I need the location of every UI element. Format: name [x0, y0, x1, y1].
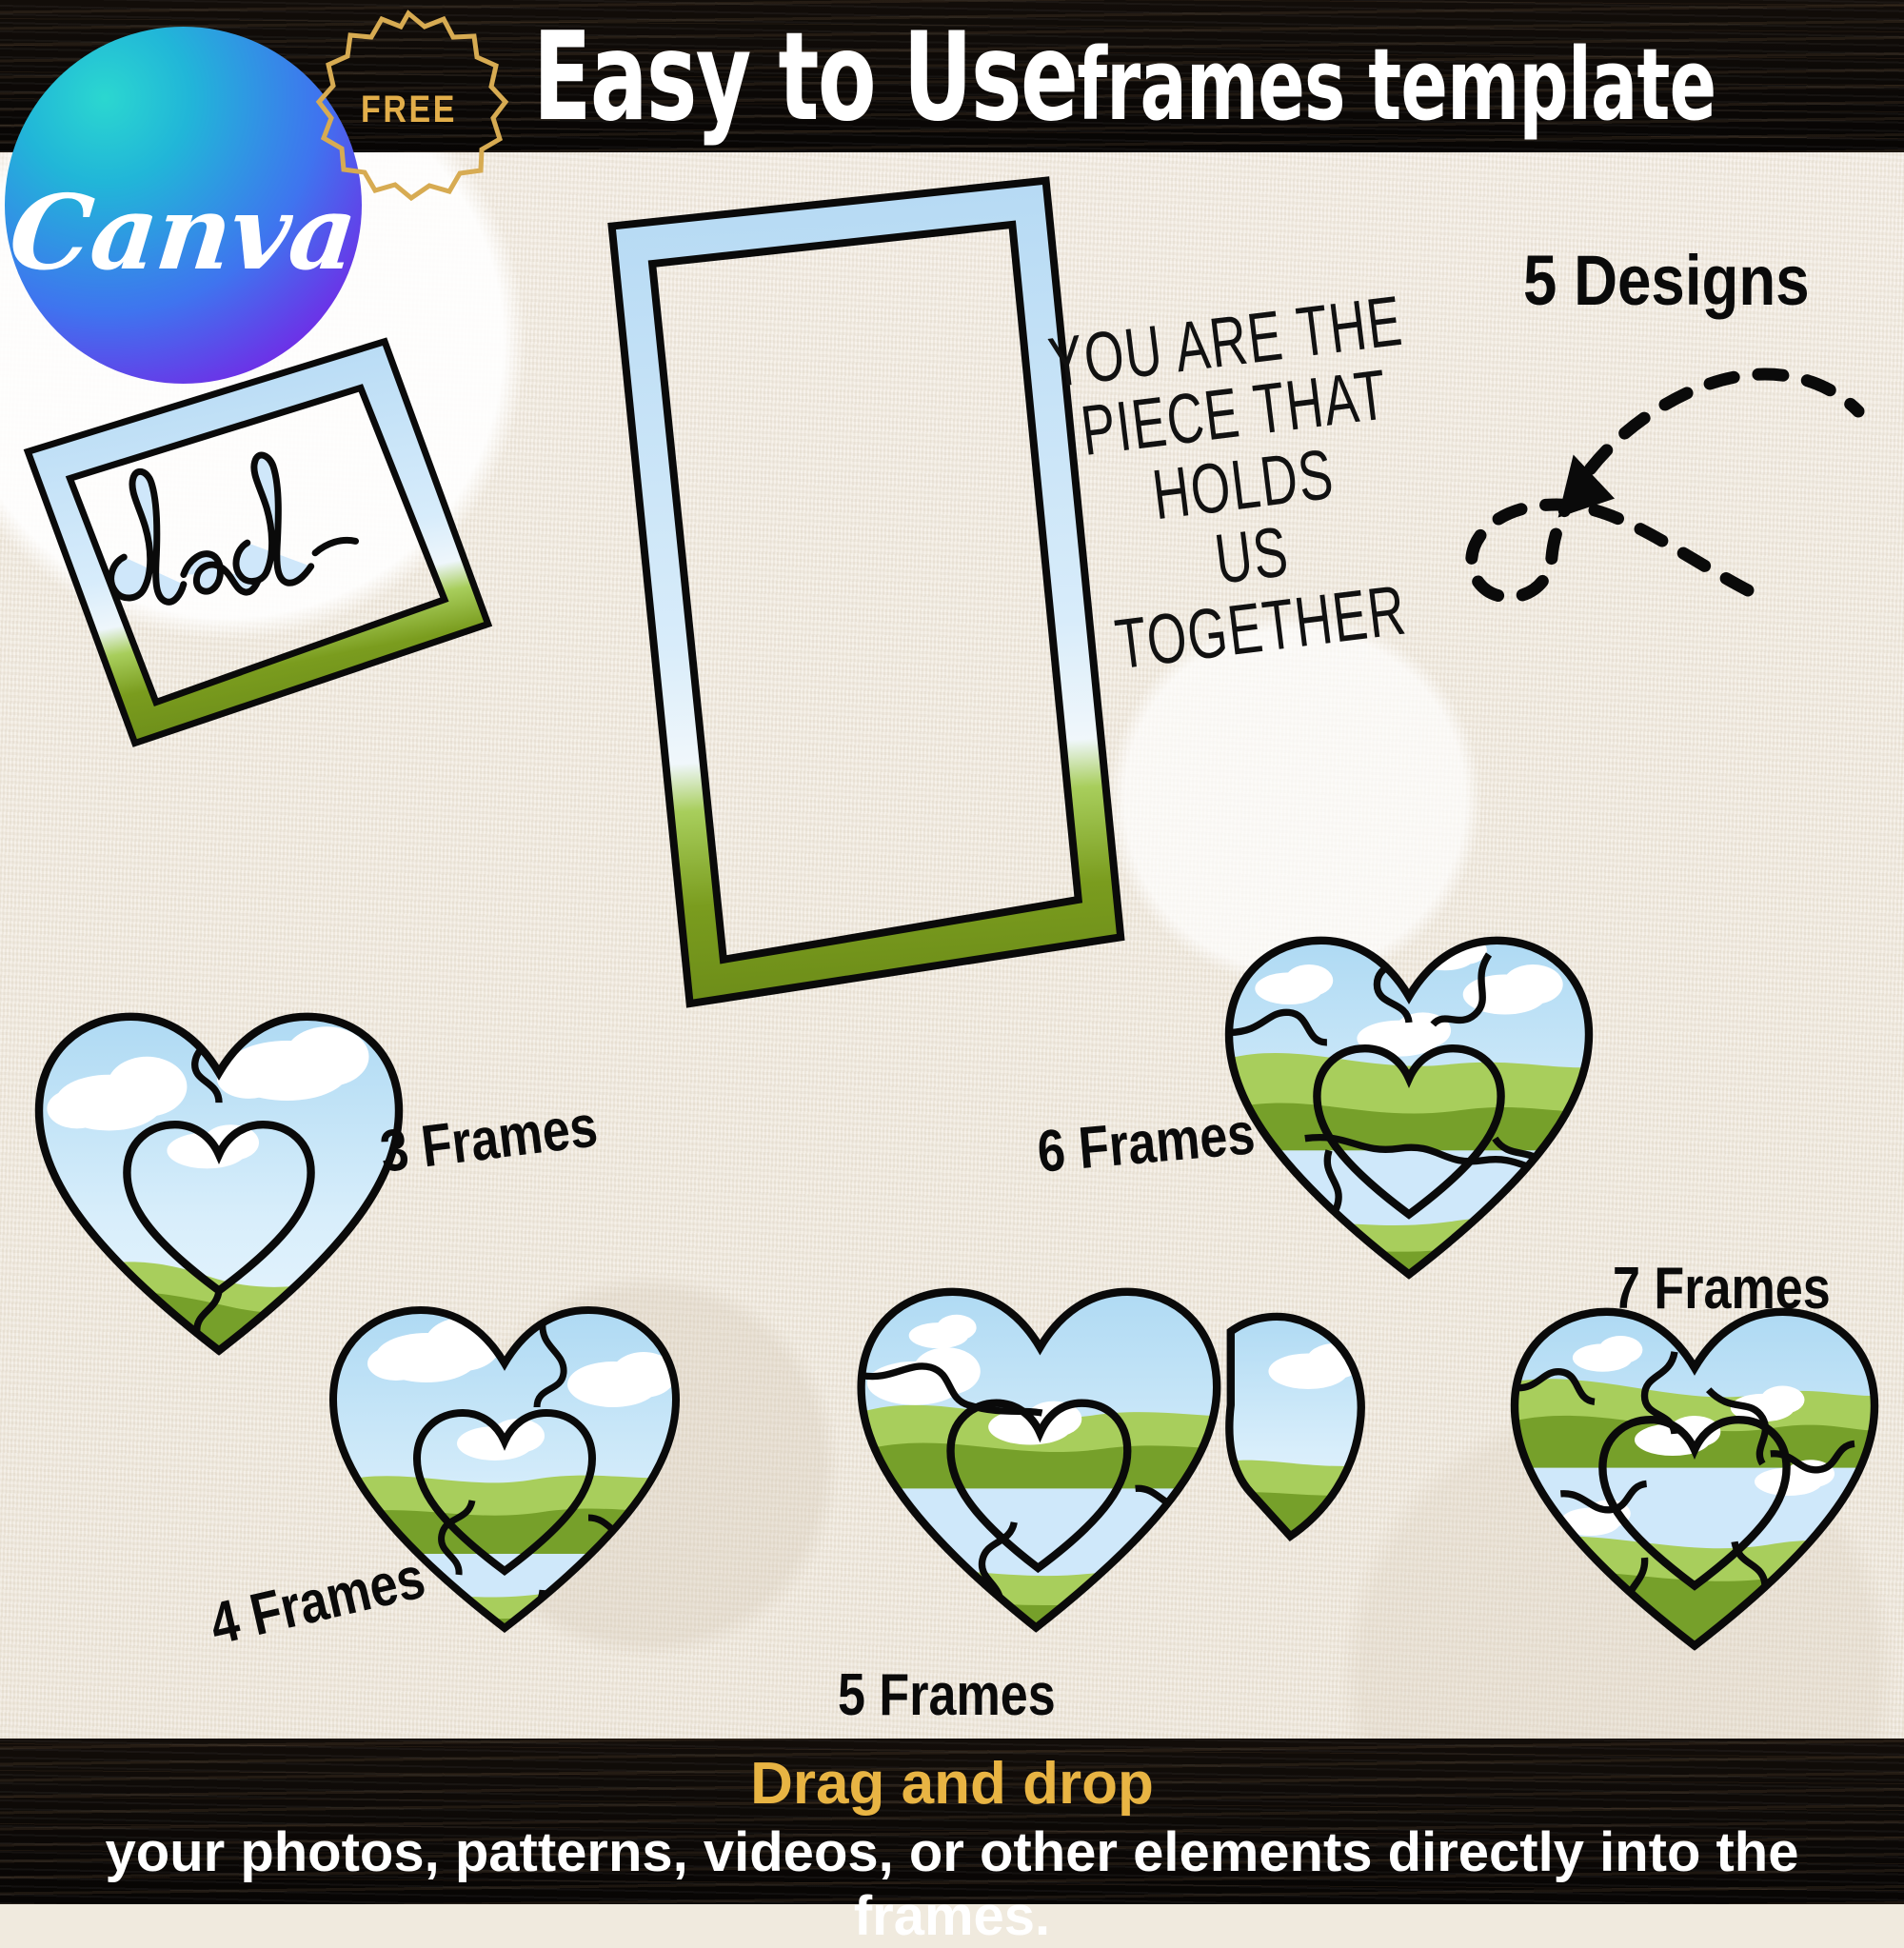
heart-7-label: 7 Frames: [1613, 1255, 1831, 1322]
title-light-part: frames template: [1077, 27, 1716, 143]
footer-subtext: your photos, patterns, videos, or other …: [0, 1820, 1904, 1948]
poster-canvas: YOU ARE THE PIECE THAT HOLDS US TOGETHER…: [0, 0, 1904, 1904]
heart-6-frames[interactable]: [1209, 904, 1609, 1304]
title-bold-part: Easy to Use: [533, 7, 1077, 149]
heart-7-frames[interactable]: [1495, 1285, 1894, 1666]
designs-count-label: 5 Designs: [1523, 240, 1810, 321]
footer-headline: Drag and drop: [0, 1750, 1904, 1818]
quote-text: YOU ARE THE PIECE THAT HOLDS US TOGETHER: [1044, 285, 1442, 685]
page-title: Easy to Useframes template: [533, 17, 1716, 139]
dashed-loop-arrow-icon: [1447, 324, 1904, 638]
heart-5-frames[interactable]: [847, 1257, 1304, 1657]
starburst-badge-icon: FREE: [307, 8, 511, 212]
free-badge-label: FREE: [322, 8, 496, 212]
heart-5-label: 5 Frames: [838, 1661, 1056, 1729]
